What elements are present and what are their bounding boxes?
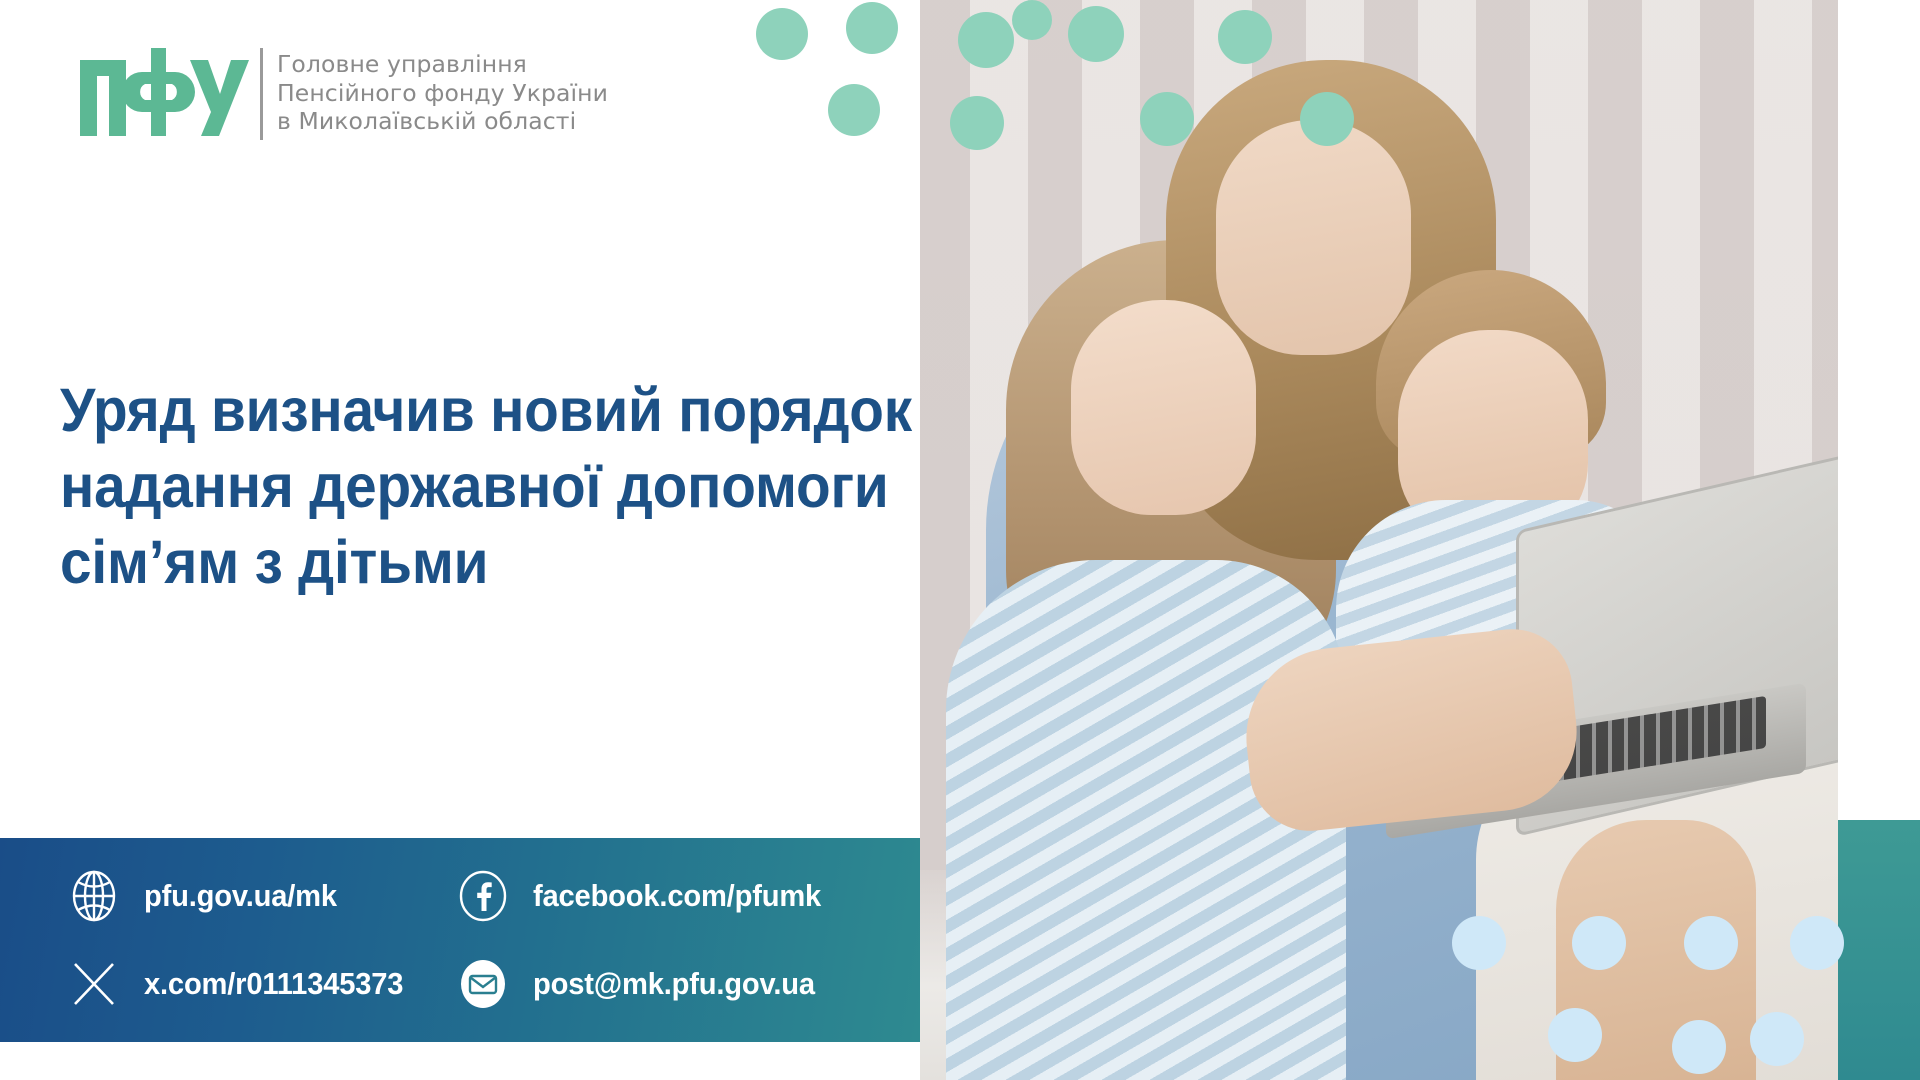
decorative-blue-dot bbox=[1684, 916, 1738, 970]
pfu-logo[interactable]: Головне управління Пенсійного фонду Укра… bbox=[78, 44, 608, 140]
decorative-green-dot bbox=[756, 8, 808, 60]
contact-item-x[interactable]: x.com/r0111345373 bbox=[0, 940, 415, 1028]
right-white-margin bbox=[1838, 0, 1920, 820]
facebook-icon bbox=[455, 868, 511, 924]
logo-subtitle-line-1: Головне управління bbox=[277, 50, 608, 79]
page-title-line-2: надання державної допомоги bbox=[60, 448, 851, 524]
pfu-logo-mark-icon bbox=[78, 44, 250, 140]
corner-accent-block bbox=[1838, 820, 1920, 1080]
decorative-green-dot bbox=[950, 96, 1004, 150]
decorative-green-dot bbox=[1012, 0, 1052, 40]
contact-item-facebook[interactable]: facebook.com/pfumk bbox=[415, 852, 920, 940]
contact-label-email: post@mk.pfu.gov.ua bbox=[533, 967, 815, 1001]
contact-footer-bar: pfu.gov.ua/mk facebook.com/pfumk bbox=[0, 838, 920, 1042]
decorative-green-dot bbox=[1300, 92, 1354, 146]
x-icon bbox=[66, 956, 122, 1012]
bottom-left-white-margin bbox=[0, 1042, 920, 1080]
decorative-blue-dot bbox=[1572, 916, 1626, 970]
poster-root: Головне управління Пенсійного фонду Укра… bbox=[0, 0, 1920, 1080]
decorative-blue-dot bbox=[1672, 1020, 1726, 1074]
decorative-green-dot bbox=[958, 12, 1014, 68]
logo-subtitle-line-3: в Миколаївській області bbox=[277, 107, 608, 136]
decorative-green-dot bbox=[828, 84, 880, 136]
decorative-green-dot bbox=[1218, 10, 1272, 64]
decorative-green-dot bbox=[1140, 92, 1194, 146]
contact-label-website: pfu.gov.ua/mk bbox=[144, 879, 337, 913]
page-title: Уряд визначив новий порядок надання держ… bbox=[60, 372, 910, 600]
envelope-icon bbox=[455, 956, 511, 1012]
logo-subtitle-line-2: Пенсійного фонду України bbox=[277, 79, 608, 108]
logo-subtitle: Головне управління Пенсійного фонду Укра… bbox=[277, 44, 608, 136]
logo-divider bbox=[260, 48, 263, 140]
decorative-blue-dot bbox=[1452, 916, 1506, 970]
decorative-green-dot bbox=[1068, 6, 1124, 62]
contact-item-website[interactable]: pfu.gov.ua/mk bbox=[0, 852, 415, 940]
decorative-blue-dot bbox=[1790, 916, 1844, 970]
decorative-green-dot bbox=[846, 2, 898, 54]
contact-label-facebook: facebook.com/pfumk bbox=[533, 879, 821, 913]
decorative-blue-dot bbox=[1750, 1012, 1804, 1066]
page-title-line-1: Уряд визначив новий порядок bbox=[60, 372, 851, 448]
photo-mother-face bbox=[1216, 120, 1411, 355]
contact-label-x: x.com/r0111345373 bbox=[144, 967, 403, 1001]
globe-icon bbox=[66, 868, 122, 924]
page-title-line-3: сім’ям з дітьми bbox=[60, 524, 851, 600]
contact-grid: pfu.gov.ua/mk facebook.com/pfumk bbox=[0, 838, 920, 1042]
contact-item-email[interactable]: post@mk.pfu.gov.ua bbox=[415, 940, 920, 1028]
photo-girl-face bbox=[1071, 300, 1256, 515]
decorative-blue-dot bbox=[1548, 1008, 1602, 1062]
